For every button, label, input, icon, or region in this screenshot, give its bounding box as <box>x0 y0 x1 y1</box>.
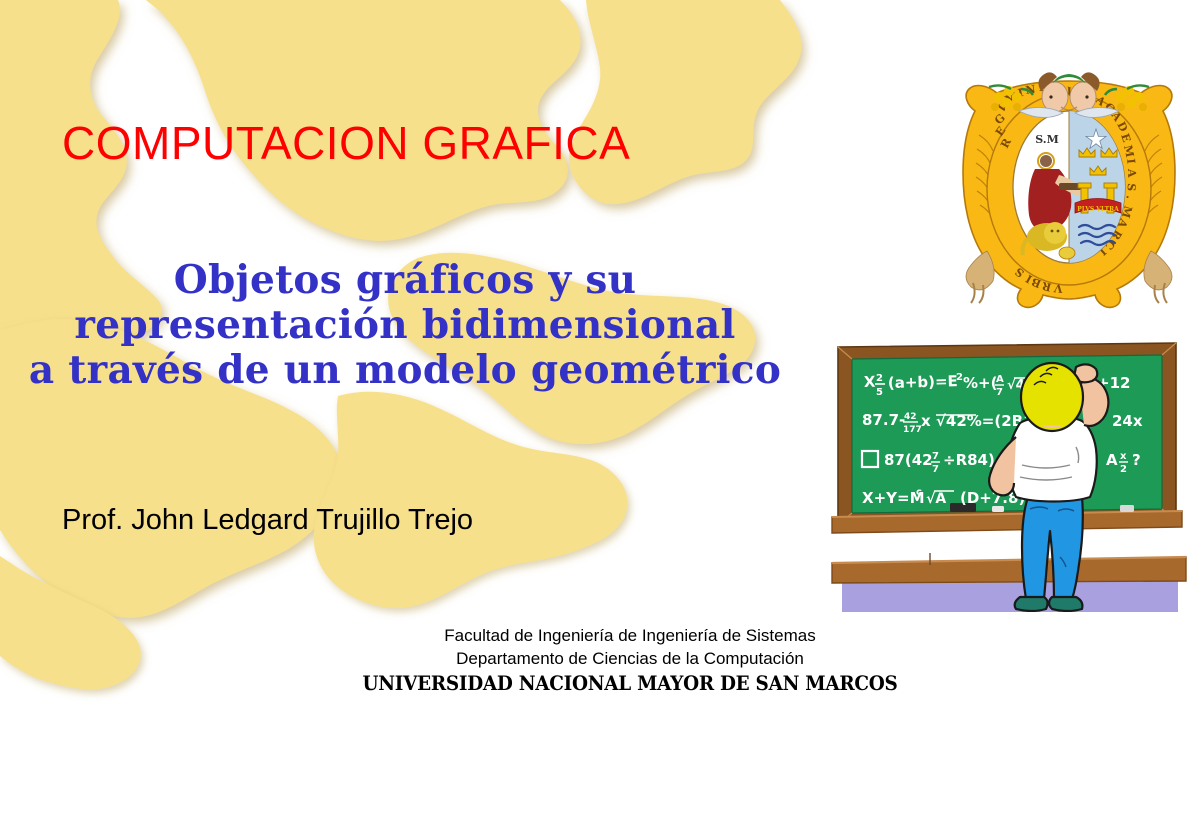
crest-tassel-right <box>1144 251 1172 303</box>
svg-text:PLVS VLTRA: PLVS VLTRA <box>1077 206 1119 213</box>
paper-patch-bottom-mid <box>314 392 628 608</box>
subtitle-line-2: representación bidimensional <box>0 303 810 348</box>
unmsm-crest-icon: R E G V M I N P E R V A C A D E M I A S … <box>955 57 1183 315</box>
svg-text:87.7-: 87.7- <box>862 411 905 429</box>
svg-text:2: 2 <box>876 373 883 384</box>
svg-text:7: 7 <box>932 451 939 462</box>
svg-text:V: V <box>1053 281 1064 295</box>
blackboard-student-illustration: X 2 5 (a+b)=E 2 %+( A 7 √42 ) x 4O 7 7 +… <box>824 325 1196 612</box>
crest-banner: PLVS VLTRA <box>1075 199 1121 214</box>
shoe-left <box>1015 597 1048 611</box>
floor <box>842 581 1178 612</box>
svg-text:S: S <box>1124 183 1138 192</box>
subtitle-line-3: a través de un modelo geométrico <box>0 348 810 393</box>
slide-subtitle: Objetos gráficos y su representación bid… <box>0 258 810 393</box>
presentation-slide: COMPUTACION GRAFICA Objetos gráficos y s… <box>0 0 1200 831</box>
svg-text:24x: 24x <box>1112 412 1143 430</box>
crest-tassel-left <box>966 251 994 303</box>
svg-text:2: 2 <box>1120 464 1127 475</box>
svg-text:c: c <box>916 487 922 498</box>
svg-text:(a+b)=E: (a+b)=E <box>888 372 958 392</box>
svg-text:√A: √A <box>926 491 946 507</box>
footer-department: Departamento de Ciencias de la Computaci… <box>255 647 1005 670</box>
chalk-piece-2 <box>1120 505 1134 512</box>
svg-text:A: A <box>996 374 1004 385</box>
author-name: Prof. John Ledgard Trujillo Trejo <box>62 504 473 537</box>
paper-patch-top-right <box>569 0 801 204</box>
svg-text:177: 177 <box>903 425 922 435</box>
svg-text:%+(: %+( <box>963 374 997 392</box>
shoe-right <box>1049 597 1082 611</box>
svg-text:5: 5 <box>876 387 883 398</box>
slide-title: COMPUTACION GRAFICA <box>62 116 630 170</box>
paper-patch-left-edge <box>0 556 141 689</box>
subtitle-line-1: Objetos gráficos y su <box>0 258 810 303</box>
footer-faculty: Facultad de Ingeniería de Ingeniería de … <box>255 624 1005 647</box>
svg-text:42: 42 <box>904 412 917 422</box>
svg-text:X: X <box>864 373 876 391</box>
svg-text:2: 2 <box>956 372 963 383</box>
footer-affiliation: Facultad de Ingeniería de Ingeniería de … <box>255 624 1005 696</box>
crest-inner-shield: S.M <box>1013 111 1125 263</box>
svg-text:A: A <box>1125 168 1138 178</box>
footer-university: UNIVERSIDAD NACIONAL MAYOR DE SAN MARCOS <box>285 670 975 696</box>
svg-text:87(42: 87(42 <box>884 451 933 469</box>
svg-text:A: A <box>1106 451 1118 469</box>
svg-text:7: 7 <box>996 387 1003 398</box>
svg-text:7: 7 <box>932 464 939 475</box>
svg-text:?: ? <box>1132 451 1141 469</box>
svg-text:S.M: S.M <box>1035 133 1059 146</box>
svg-text:x: x <box>1120 451 1127 462</box>
